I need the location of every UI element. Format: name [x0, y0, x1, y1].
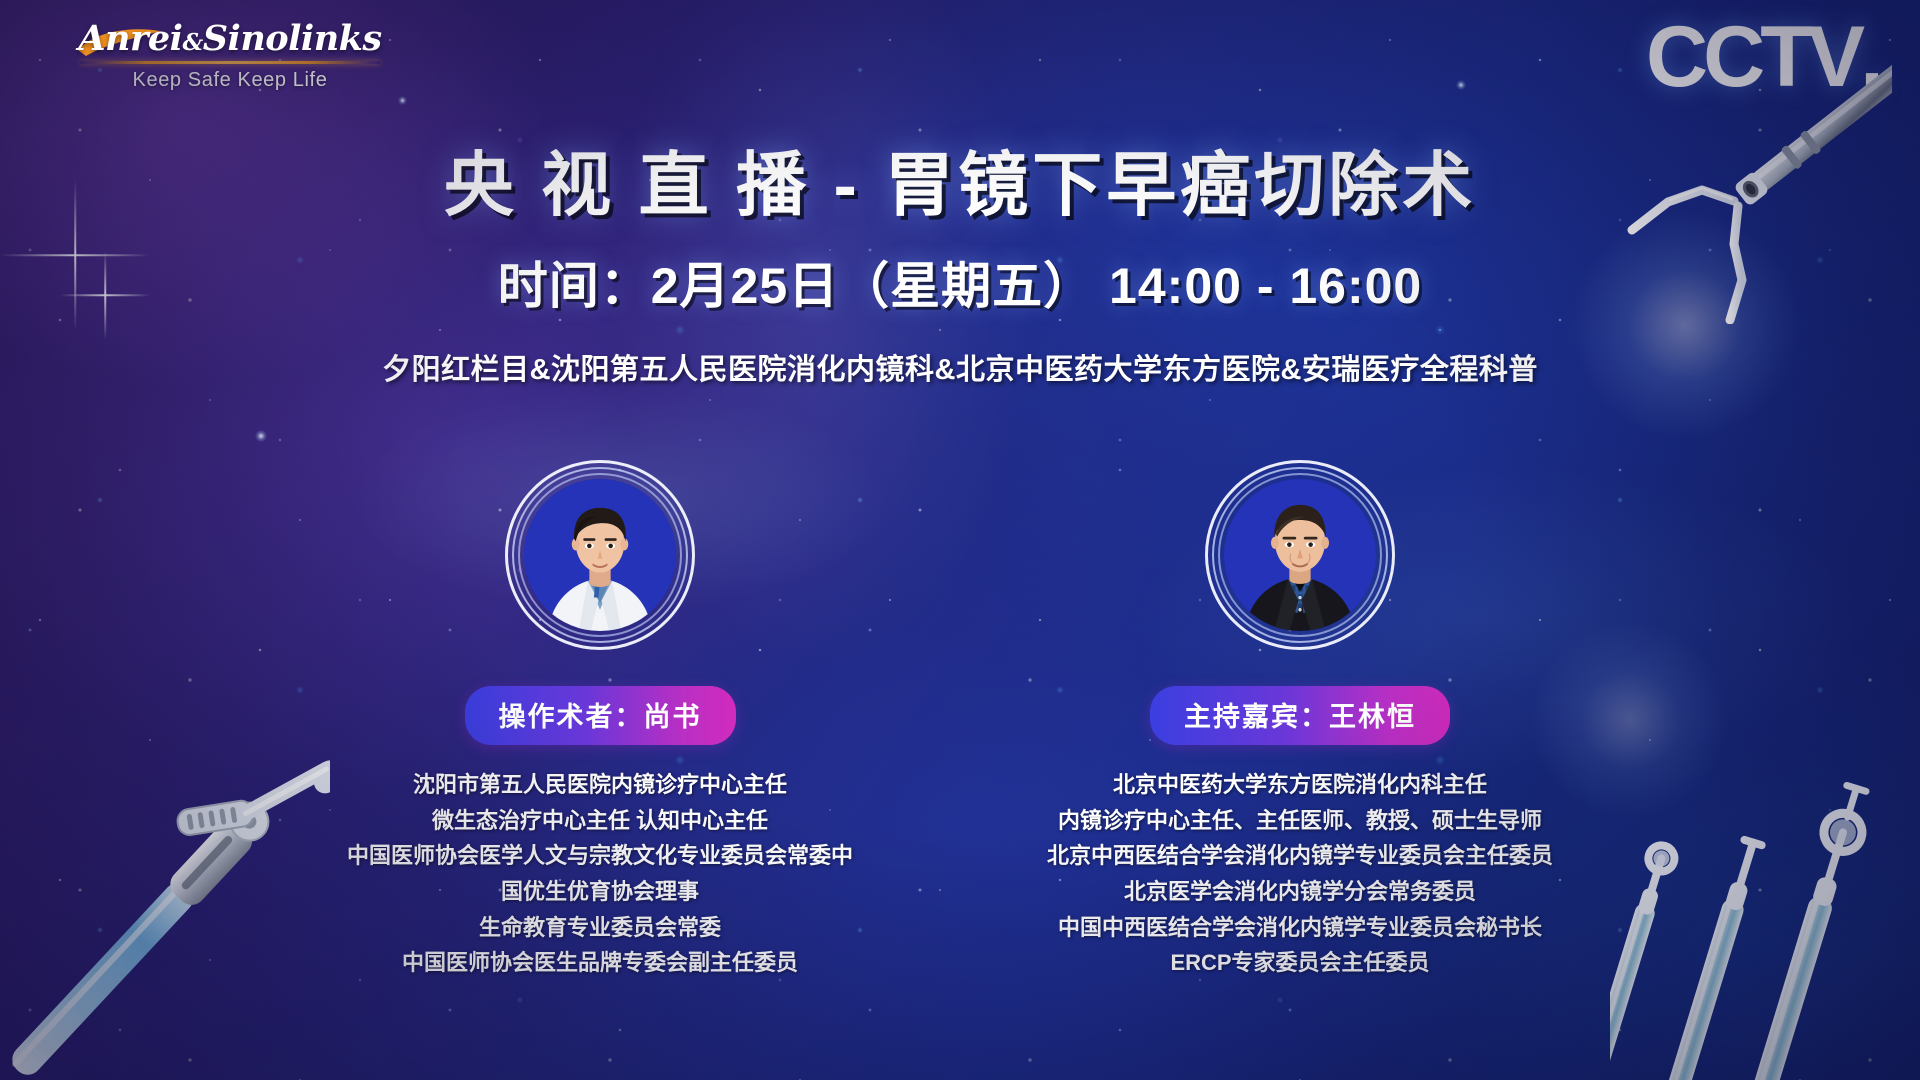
- glow-dot-a: [255, 430, 267, 442]
- glow-dot-b: [1456, 80, 1466, 90]
- bio-line: 中国医师协会医学人文与宗教文化专业委员会常委中: [280, 838, 920, 874]
- event-organizers: 夕阳红栏目&沈阳第五人民医院消化内镜科&北京中医药大学东方医院&安瑞医疗全程科普: [0, 346, 1920, 388]
- portrait-host-illustration: [1224, 479, 1376, 631]
- role-badge-host: 主持嘉宾：王林恒: [1150, 686, 1450, 745]
- role-badge-operator: 操作术者：尚书: [465, 686, 736, 745]
- person-card-host: 主持嘉宾：王林恒 北京中医药大学东方医院消化内科主任 内镜诊疗中心主任、主任医师…: [1020, 460, 1580, 997]
- person-card-operator: 操作术者：尚书 沈阳市第五人民医院内镜诊疗中心主任 微生态治疗中心主任 认知中心…: [320, 460, 880, 997]
- bio-line: 北京中西医结合学会消化内镜学专业委员会主任委员: [965, 838, 1635, 874]
- avatar-photo-host: [1224, 479, 1376, 631]
- brand-logo: Anrei&Sinolinks Keep Safe Keep Life: [70, 18, 390, 92]
- page-title: 央 视 直 播 - 胃镜下早癌切除术: [0, 148, 1920, 222]
- glow-dot-c: [398, 96, 407, 105]
- bio-line: 内镜诊疗中心主任、主任医师、教授、硕士生导师: [965, 803, 1635, 839]
- bio-line: 中国医师协会医生品牌专委会副主任委员: [280, 945, 920, 981]
- brand-divider-rule: [80, 61, 380, 64]
- avatar-photo-operator: [524, 479, 676, 631]
- event-time: 时间：2月25日（星期五） 14:00 - 16:00: [0, 246, 1920, 318]
- bio-list-host: 北京中医药大学东方医院消化内科主任 内镜诊疗中心主任、主任医师、教授、硕士生导师…: [1020, 767, 1580, 981]
- avatar: [1205, 460, 1395, 650]
- bio-line: 国优生优育协会理事: [280, 874, 920, 910]
- brand-name-part2: Sinolinks: [203, 18, 382, 59]
- avatar: [505, 460, 695, 650]
- bio-line: 北京中医药大学东方医院消化内科主任: [965, 767, 1635, 803]
- cctv-logo-dot: .: [1860, 9, 1884, 105]
- brand-name-part1: Anrei: [78, 18, 182, 59]
- brand-ampersand: &: [182, 29, 202, 56]
- brand-wordmark: Anrei&Sinolinks: [70, 18, 390, 59]
- cctv-logo: CCTV.: [1646, 14, 1884, 100]
- poster-canvas: Anrei&Sinolinks Keep Safe Keep Life CCTV…: [0, 0, 1920, 1080]
- cctv-logo-text: CCTV: [1646, 9, 1860, 105]
- bio-line: 生命教育专业委员会常委: [280, 910, 920, 946]
- bio-line: 沈阳市第五人民医院内镜诊疗中心主任: [280, 767, 920, 803]
- headline-block: 央 视 直 播 - 胃镜下早癌切除术 时间：2月25日（星期五） 14:00 -…: [0, 148, 1920, 388]
- polypectomy-snare-icons-bottom-right: [1610, 710, 1920, 1080]
- brand-tagline: Keep Safe Keep Life: [70, 69, 390, 92]
- bio-line: ERCP专家委员会主任委员: [965, 945, 1635, 981]
- bio-list-operator: 沈阳市第五人民医院内镜诊疗中心主任 微生态治疗中心主任 认知中心主任 中国医师协…: [320, 767, 880, 981]
- bio-line: 微生态治疗中心主任 认知中心主任: [280, 803, 920, 839]
- bio-line: 中国中西医结合学会消化内镜学专业委员会秘书长: [965, 910, 1635, 946]
- bio-line: 北京医学会消化内镜学分会常务委员: [965, 874, 1635, 910]
- portrait-operator-illustration: [524, 479, 676, 631]
